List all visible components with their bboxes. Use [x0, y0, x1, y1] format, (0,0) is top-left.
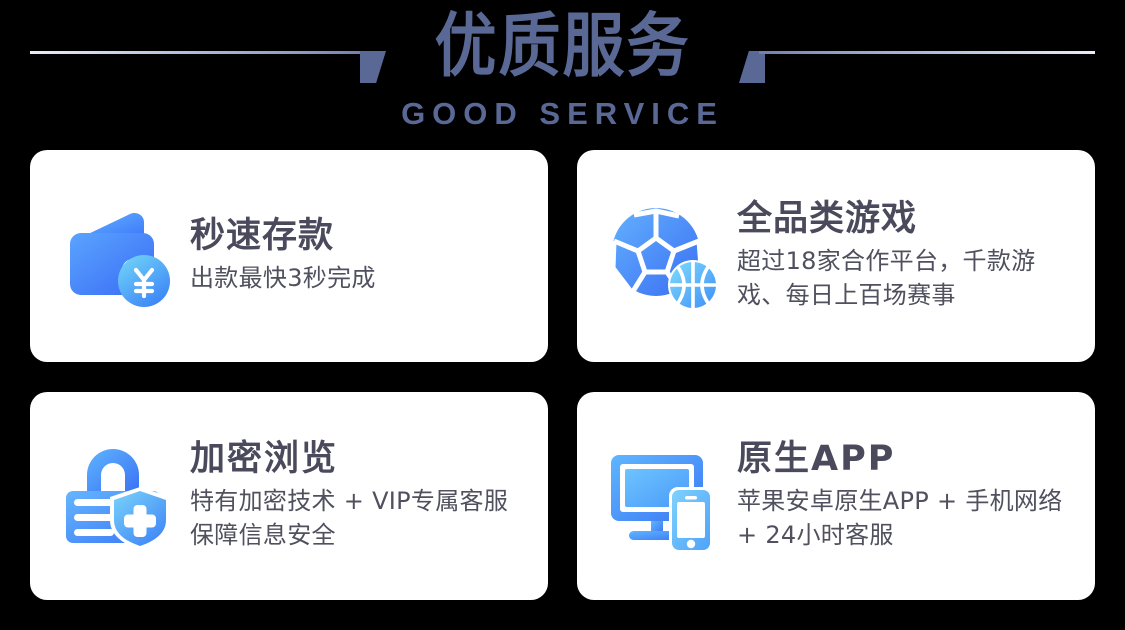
left-slash-decoration: [360, 51, 386, 83]
card-title: 全品类游戏: [737, 200, 1077, 239]
wallet-yuan-icon: [58, 197, 176, 315]
card-description: 苹果安卓原生APP + 手机网络 + 24小时客服: [737, 484, 1077, 552]
card-text-block: 全品类游戏 超过18家合作平台，千款游戏、每日上百场赛事: [737, 200, 1077, 312]
page-header: 优质服务 GOOD SERVICE: [0, 0, 1125, 148]
card-text-block: 秒速存款 出款最快3秒完成: [190, 217, 530, 295]
card-text-block: 原生APP 苹果安卓原生APP + 手机网络 + 24小时客服: [737, 440, 1077, 552]
feature-card-instant-deposit[interactable]: 秒速存款 出款最快3秒完成: [30, 150, 548, 362]
card-text-block: 加密浏览 特有加密技术 + VIP专属客服保障信息安全: [190, 440, 530, 552]
monitor-phone-icon: [605, 437, 723, 555]
feature-card-native-app[interactable]: 原生APP 苹果安卓原生APP + 手机网络 + 24小时客服: [577, 392, 1095, 600]
card-description: 超过18家合作平台，千款游戏、每日上百场赛事: [737, 244, 1077, 312]
left-rule-line: [30, 51, 366, 54]
page-title: 优质服务: [404, 11, 720, 80]
page-root: 优质服务 GOOD SERVICE: [0, 0, 1125, 630]
feature-card-all-category-games[interactable]: 全品类游戏 超过18家合作平台，千款游戏、每日上百场赛事: [577, 150, 1095, 362]
card-description: 特有加密技术 + VIP专属客服保障信息安全: [190, 484, 530, 552]
card-title: 加密浏览: [190, 440, 530, 479]
soccer-basketball-icon: [605, 197, 723, 315]
page-subtitle: GOOD SERVICE: [401, 98, 724, 129]
header-title-row: 优质服务: [0, 0, 1125, 92]
card-description: 出款最快3秒完成: [190, 261, 530, 295]
lock-shield-icon: [58, 437, 176, 555]
feature-card-encrypted-browsing[interactable]: 加密浏览 特有加密技术 + VIP专属客服保障信息安全: [30, 392, 548, 600]
right-slash-decoration: [739, 51, 765, 83]
card-title: 原生APP: [737, 440, 1077, 479]
card-title: 秒速存款: [190, 217, 530, 256]
feature-card-grid: 秒速存款 出款最快3秒完成: [30, 150, 1095, 600]
right-rule-line: [759, 51, 1095, 54]
